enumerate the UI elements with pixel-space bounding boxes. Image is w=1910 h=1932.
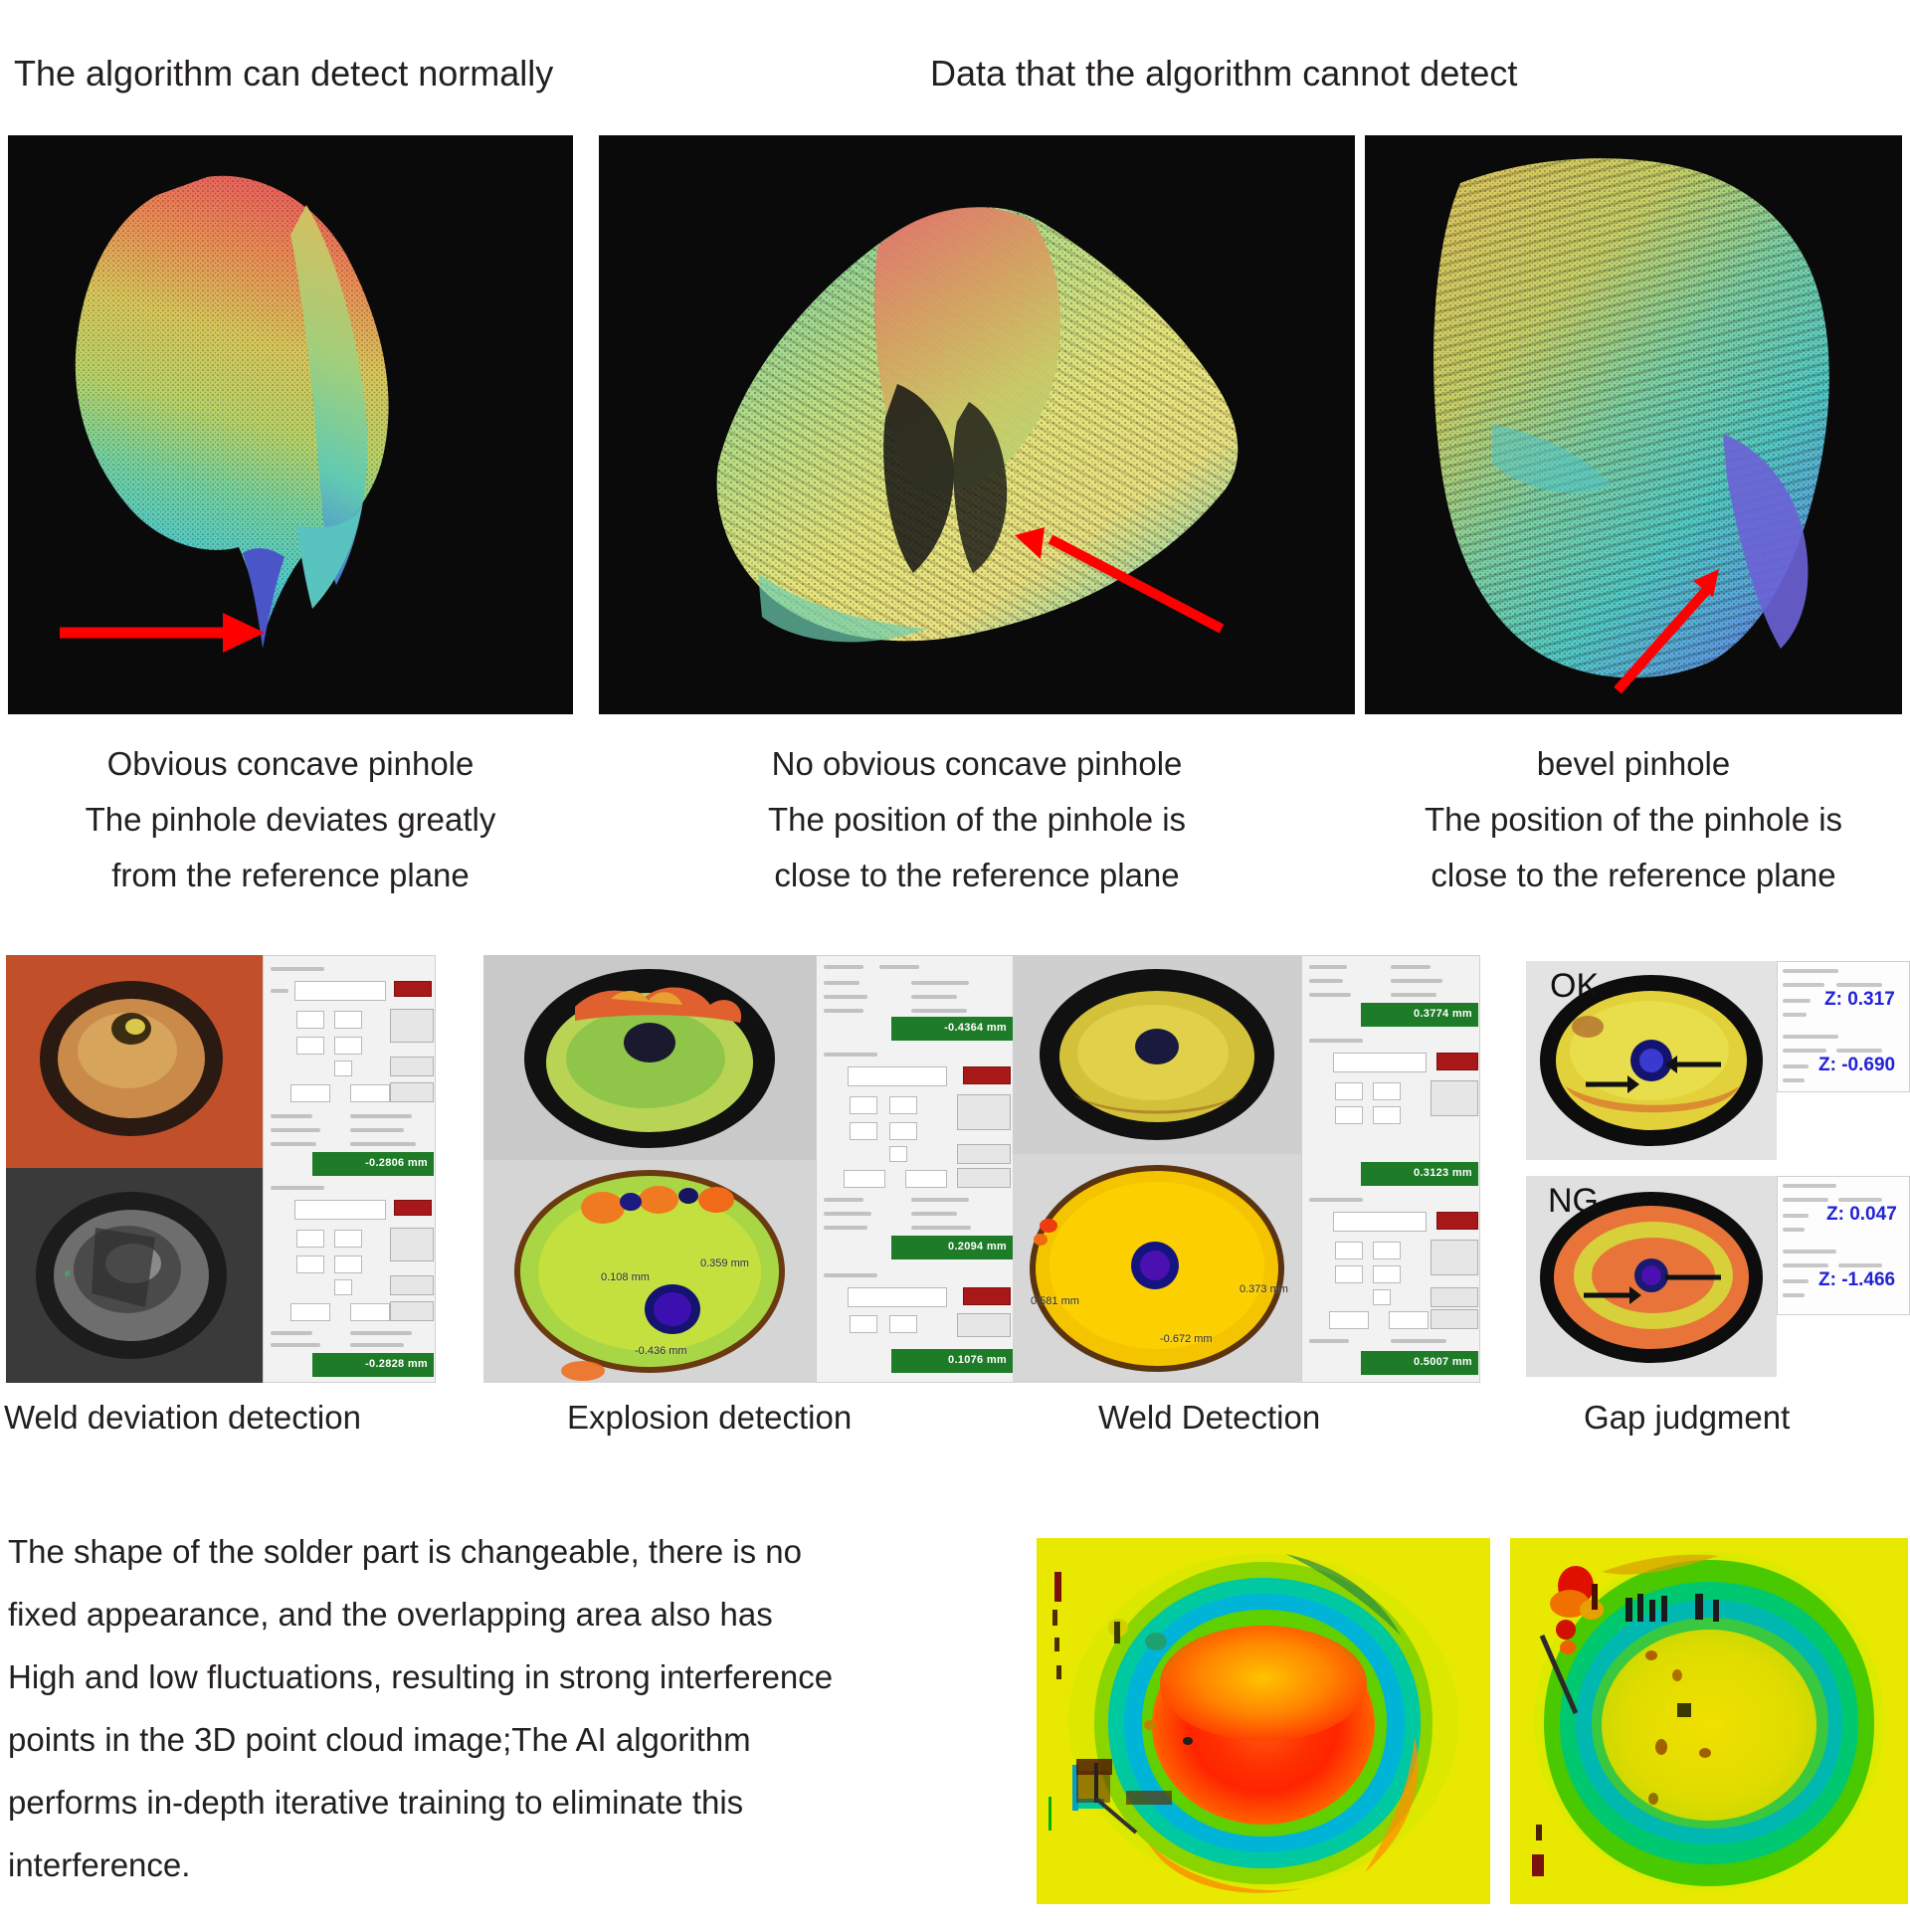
header-detect-normally: The algorithm can detect normally [14,52,553,96]
x2-field-3[interactable] [850,1122,877,1140]
caption-explosion-detection: Explosion detection [567,1393,852,1443]
measurement-value-2b: 0.2094 mm [891,1236,1013,1259]
caption-pointcloud-2: No obvious concave pinhole The position … [599,736,1355,903]
y2-field-6[interactable] [1373,1265,1401,1283]
weld-detection-image-heatmap [1013,1154,1301,1383]
y-field-5[interactable] [1373,1082,1401,1100]
explosion-image-top [483,955,816,1160]
z-value-ok-2: Z: -0.690 [1818,1055,1895,1076]
action-button-6[interactable] [1431,1240,1478,1275]
render-b-svg [1510,1538,1908,1904]
percent-field-6[interactable] [1373,1289,1391,1305]
y2-field-5[interactable] [1373,1106,1401,1124]
caption-line: The position of the pinhole is [599,792,1355,848]
status-badge-red-5 [1436,1053,1478,1070]
status-badge-red-3 [963,1066,1011,1084]
caption-line: The pinhole deviates greatly [8,792,573,848]
set-button-3[interactable] [957,1144,1011,1164]
screenshot-gap-judgment: OK Z: 0.317 Z: -0.690 NG Z: 0.047 Z: -1.… [1526,955,1910,1383]
set-button-6[interactable] [1431,1287,1478,1307]
paragraph-line: High and low fluctuations, resulting in … [8,1645,1033,1708]
min-field-1[interactable] [290,1084,330,1102]
ok-button-6[interactable] [1431,1309,1478,1329]
caption-line: bevel pinhole [1365,736,1902,792]
x2-field-1[interactable] [296,1037,324,1055]
percent-field-2[interactable] [334,1279,352,1295]
status-badge-red-1 [394,981,432,997]
z-value-ng-1: Z: 0.047 [1826,1204,1897,1226]
ok-button-3[interactable] [957,1168,1011,1188]
heat-label-3c: -0.672 mm [1160,1333,1213,1345]
x-field-2[interactable] [296,1230,324,1248]
caption-weld-deviation-detection: Weld deviation detection [4,1393,361,1443]
status-badge-red-2 [394,1200,432,1216]
name-field-1[interactable] [294,981,386,1001]
paragraph-line: fixed appearance, and the overlapping ar… [8,1583,1033,1645]
weld-image-color-top [6,955,263,1168]
y-field-6[interactable] [1373,1242,1401,1259]
action-button-4[interactable] [957,1313,1011,1337]
solder-render-red-center [1037,1538,1490,1904]
set-button-2[interactable] [390,1275,434,1295]
caption-gap-judgment: Gap judgment [1584,1393,1790,1443]
header-cannot-detect: Data that the algorithm cannot detect [930,52,1517,96]
screenshot-explosion-detection: 0.108 mm 0.359 mm -0.436 mm -0.4364 mm 0… [483,955,1021,1383]
caption-line: from the reference plane [8,848,573,903]
measurement-value-1a: -0.2806 mm [312,1152,434,1176]
x2-field-2[interactable] [296,1256,324,1273]
paragraph-line: interference. [8,1834,1033,1896]
caption-line: The position of the pinhole is [1365,792,1902,848]
status-label-ok: OK [1550,967,1599,1006]
min-field-2[interactable] [290,1303,330,1321]
x-field-6[interactable] [1335,1242,1363,1259]
status-badge-red-6 [1436,1212,1478,1230]
z-value-ng-2: Z: -1.466 [1818,1269,1895,1291]
caption-line: Obvious concave pinhole [8,736,573,792]
min-field-6[interactable] [1329,1311,1369,1329]
pointcloud-image-no-obvious-concave-pinhole [599,135,1355,714]
measurement-value-3a: 0.3774 mm [1361,1003,1478,1027]
red-arrow-icon-1 [56,603,265,663]
row1-headers: The algorithm can detect normally Data t… [0,52,1910,103]
x2-field-6[interactable] [1335,1265,1363,1283]
x-field-4[interactable] [850,1315,877,1333]
red-arrow-icon-3 [1602,565,1731,694]
z-value-ok-1: Z: 0.317 [1824,989,1895,1011]
ok-button-1[interactable] [390,1082,434,1102]
name-field-2[interactable] [294,1200,386,1220]
heat-label-3b: 0.373 mm [1240,1283,1288,1295]
measurement-value-3c: 0.5007 mm [1361,1351,1478,1375]
caption-pointcloud-3: bevel pinhole The position of the pinhol… [1365,736,1902,903]
max-field-2[interactable] [350,1303,390,1321]
percent-field-3[interactable] [889,1146,907,1162]
y2-field-3[interactable] [889,1122,917,1140]
ok-button-2[interactable] [390,1301,434,1321]
caption-weld-detection: Weld Detection [1098,1393,1320,1443]
pointcloud-image-obvious-concave-pinhole [8,135,573,714]
x-field-3[interactable] [850,1096,877,1114]
heat-label-2b: 0.359 mm [700,1257,749,1269]
action-button-1[interactable] [390,1009,434,1043]
status-badge-red-4 [963,1287,1011,1305]
status-label-ng: NG [1548,1182,1599,1221]
red-arrow-icon-2 [997,525,1226,635]
paragraph-line: points in the 3D point cloud image;The A… [8,1708,1033,1771]
x-field-5[interactable] [1335,1082,1363,1100]
max-field-1[interactable] [350,1084,390,1102]
solder-render-yellow-center [1510,1538,1908,1904]
x2-field-5[interactable] [1335,1106,1363,1124]
name-field-5[interactable] [1333,1053,1427,1072]
caption-line: No obvious concave pinhole [599,736,1355,792]
heat-label-2a: 0.108 mm [601,1271,650,1283]
action-button-2[interactable] [390,1228,434,1261]
heat-label-3a: 0.581 mm [1031,1295,1079,1307]
paragraph-line: The shape of the solder part is changeab… [8,1520,1033,1583]
measurement-value-1b: -0.2828 mm [312,1353,434,1377]
y-field-3[interactable] [889,1096,917,1114]
heat-label-2c: -0.436 mm [635,1345,687,1357]
y-field-1[interactable] [334,1011,362,1029]
weld-detection-image-top [1013,955,1301,1154]
summary-paragraph: The shape of the solder part is changeab… [8,1520,1033,1896]
percent-field-1[interactable] [334,1061,352,1076]
max-field-6[interactable] [1389,1311,1429,1329]
pointcloud-image-bevel-pinhole [1365,135,1902,714]
measurement-value-3b: 0.3123 mm [1361,1162,1478,1186]
screenshot-weld-deviation-detection: # -0.2806 mm -0.2828 mm [6,955,436,1383]
paragraph-line: performs in-depth iterative training to … [8,1771,1033,1834]
caption-pointcloud-1: Obvious concave pinhole The pinhole devi… [8,736,573,903]
screenshot-weld-detection: 0.581 mm 0.373 mm -0.672 mm 0.3774 mm 0.… [1013,955,1480,1383]
measurement-value-2a: -0.4364 mm [891,1017,1013,1041]
y2-field-1[interactable] [334,1037,362,1055]
action-button-5[interactable] [1431,1080,1478,1116]
name-field-3[interactable] [848,1066,947,1086]
name-field-4[interactable] [848,1287,947,1307]
measurement-value-2c: 0.1076 mm [891,1349,1013,1373]
action-button-3[interactable] [957,1094,1011,1130]
max-field-3[interactable] [905,1170,947,1188]
render-a-svg [1037,1538,1490,1904]
name-field-6[interactable] [1333,1212,1427,1232]
weld-image-gray-bottom: # [6,1168,263,1383]
y-field-4[interactable] [889,1315,917,1333]
y-field-2[interactable] [334,1230,362,1248]
pointcloud-render-2 [599,135,1355,714]
y2-field-2[interactable] [334,1256,362,1273]
x-field-1[interactable] [296,1011,324,1029]
caption-line: close to the reference plane [599,848,1355,903]
set-button-1[interactable] [390,1057,434,1076]
min-field-3[interactable] [844,1170,885,1188]
caption-line: close to the reference plane [1365,848,1902,903]
